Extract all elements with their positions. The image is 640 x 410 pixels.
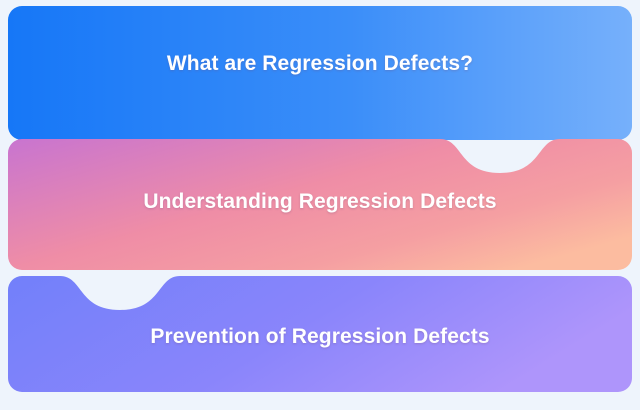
card-prevention-of-regression-defects[interactable]: Prevention of Regression Defects xyxy=(0,0,640,410)
card-3-shape xyxy=(0,0,640,410)
card-stack: What are Regression Defects? Understandi… xyxy=(0,0,640,410)
